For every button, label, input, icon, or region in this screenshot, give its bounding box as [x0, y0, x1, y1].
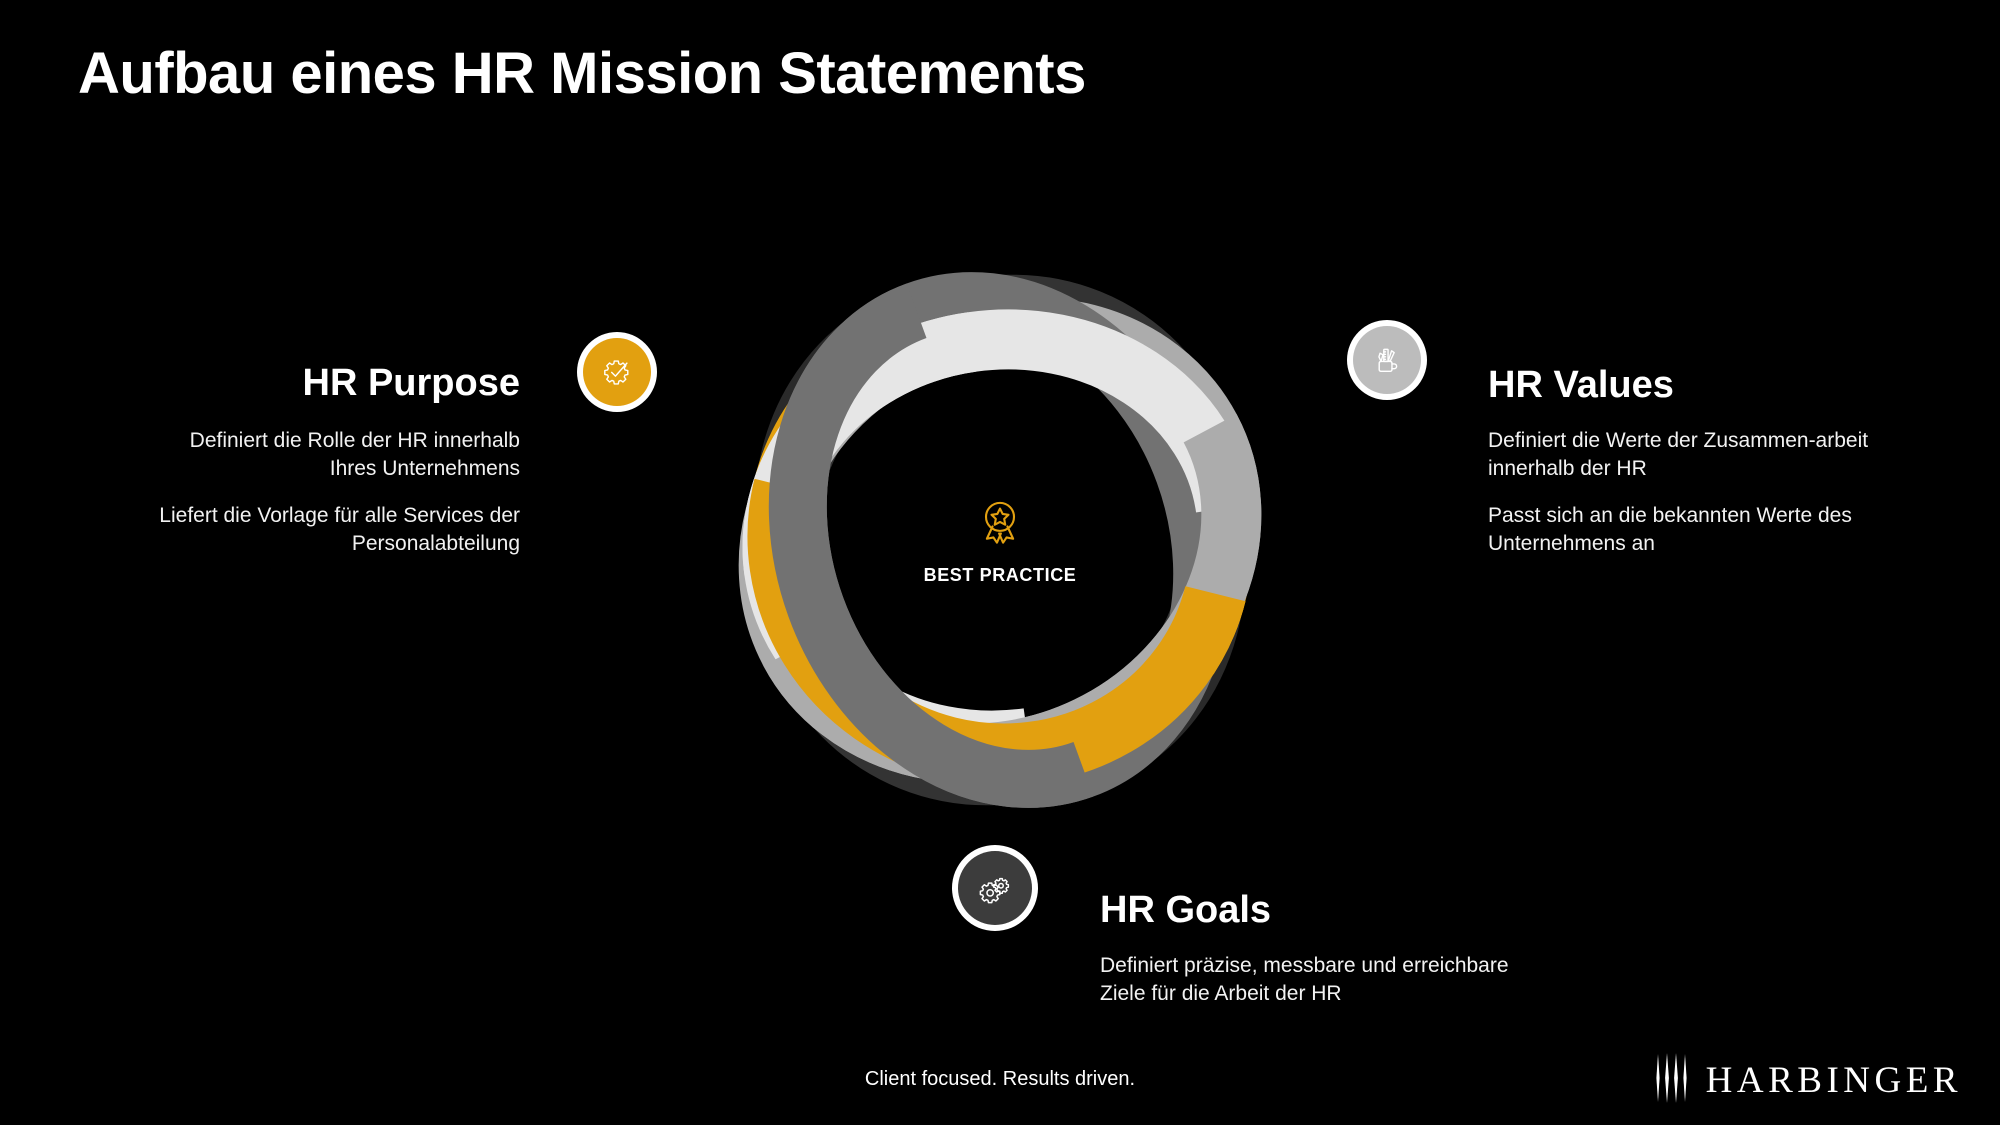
brand-logo: HARBINGER	[1652, 1055, 1962, 1105]
brand-wordmark: HARBINGER	[1706, 1062, 1962, 1099]
icon-chip-hr-values[interactable]	[1347, 320, 1427, 400]
paragraph-hr-values-1: Definiert die Werte der Zusammen-arbeit …	[1488, 427, 1888, 482]
pencil-cup-icon	[1353, 326, 1421, 394]
paragraph-hr-goals-1: Definiert präzise, messbare und erreichb…	[1100, 952, 1520, 1007]
four-tapered-strokes-icon	[1652, 1053, 1696, 1108]
text-block-hr-purpose: HR Purpose Definiert die Rolle der HR in…	[150, 363, 520, 558]
interlocking-rings-graphic	[700, 240, 1300, 840]
icon-chip-hr-purpose[interactable]	[577, 332, 657, 412]
icon-chip-hr-goals[interactable]	[952, 845, 1038, 931]
heading-hr-values: HR Values	[1488, 365, 1888, 407]
heading-hr-goals: HR Goals	[1100, 890, 1520, 932]
text-block-hr-values: HR Values Definiert die Werte der Zusamm…	[1488, 365, 1888, 558]
paragraph-hr-purpose-1: Definiert die Rolle der HR innerhalb Ihr…	[150, 427, 520, 482]
gear-check-icon	[583, 338, 651, 406]
heading-hr-purpose: HR Purpose	[150, 363, 520, 405]
page-title: Aufbau eines HR Mission Statements	[78, 40, 1086, 107]
two-gears-icon	[958, 851, 1032, 925]
paragraph-hr-purpose-2: Liefert die Vorlage für alle Services de…	[150, 502, 520, 557]
text-block-hr-goals: HR Goals Definiert präzise, messbare und…	[1100, 890, 1520, 1007]
paragraph-hr-values-2: Passt sich an die bekannten Werte des Un…	[1488, 502, 1888, 557]
